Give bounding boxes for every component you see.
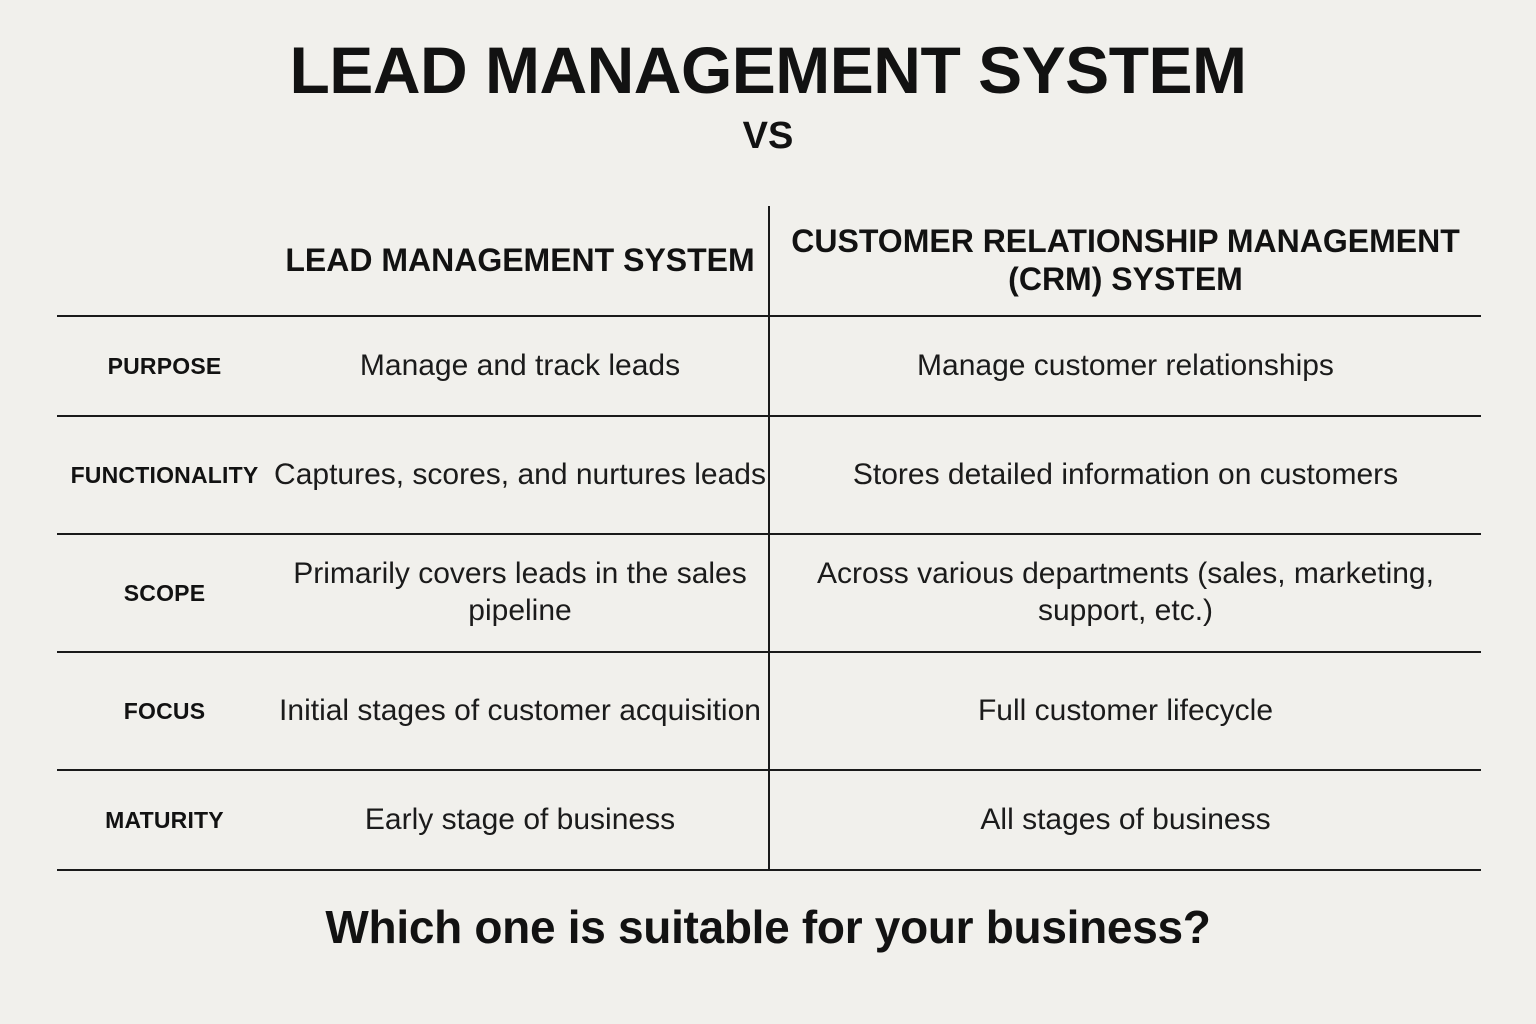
closing-question: Which one is suitable for your business? (0, 900, 1536, 954)
column-header-blank (57, 206, 272, 316)
cell-purpose-lms: Manage and track leads (272, 316, 769, 416)
table-row: FUNCTIONALITY Captures, scores, and nurt… (57, 416, 1481, 534)
cell-maturity-crm: All stages of business (769, 770, 1481, 870)
row-label-focus: FOCUS (57, 652, 272, 770)
page-title: LEAD MANAGEMENT SYSTEM (0, 36, 1536, 105)
column-header-crm-system: CUSTOMER RELATIONSHIP MANAGEMENT (CRM) S… (769, 206, 1481, 316)
cell-scope-crm: Across various departments (sales, marke… (769, 534, 1481, 652)
row-label-maturity: MATURITY (57, 770, 272, 870)
comparison-table: LEAD MANAGEMENT SYSTEM CUSTOMER RELATION… (57, 206, 1481, 871)
column-header-lead-management-system: LEAD MANAGEMENT SYSTEM (272, 206, 769, 316)
cell-purpose-crm: Manage customer relationships (769, 316, 1481, 416)
cell-scope-lms: Primarily covers leads in the sales pipe… (272, 534, 769, 652)
table-row: PURPOSE Manage and track leads Manage cu… (57, 316, 1481, 416)
row-label-purpose: PURPOSE (57, 316, 272, 416)
cell-focus-lms: Initial stages of customer acquisition (272, 652, 769, 770)
table-row: MATURITY Early stage of business All sta… (57, 770, 1481, 870)
table-row: SCOPE Primarily covers leads in the sale… (57, 534, 1481, 652)
cell-functionality-lms: Captures, scores, and nurtures leads (272, 416, 769, 534)
table-body: PURPOSE Manage and track leads Manage cu… (57, 316, 1481, 870)
versus-label: VS (0, 117, 1536, 157)
row-label-functionality: FUNCTIONALITY (57, 416, 272, 534)
table-header: LEAD MANAGEMENT SYSTEM CUSTOMER RELATION… (57, 206, 1481, 316)
comparison-table-container: LEAD MANAGEMENT SYSTEM CUSTOMER RELATION… (57, 206, 1481, 871)
row-label-scope: SCOPE (57, 534, 272, 652)
cell-focus-crm: Full customer lifecycle (769, 652, 1481, 770)
title-block: LEAD MANAGEMENT SYSTEM VS (0, 0, 1536, 157)
comparison-infographic: LEAD MANAGEMENT SYSTEM VS LEAD MANAGEMEN… (0, 0, 1536, 1024)
table-header-row: LEAD MANAGEMENT SYSTEM CUSTOMER RELATION… (57, 206, 1481, 316)
cell-maturity-lms: Early stage of business (272, 770, 769, 870)
table-row: FOCUS Initial stages of customer acquisi… (57, 652, 1481, 770)
cell-functionality-crm: Stores detailed information on customers (769, 416, 1481, 534)
